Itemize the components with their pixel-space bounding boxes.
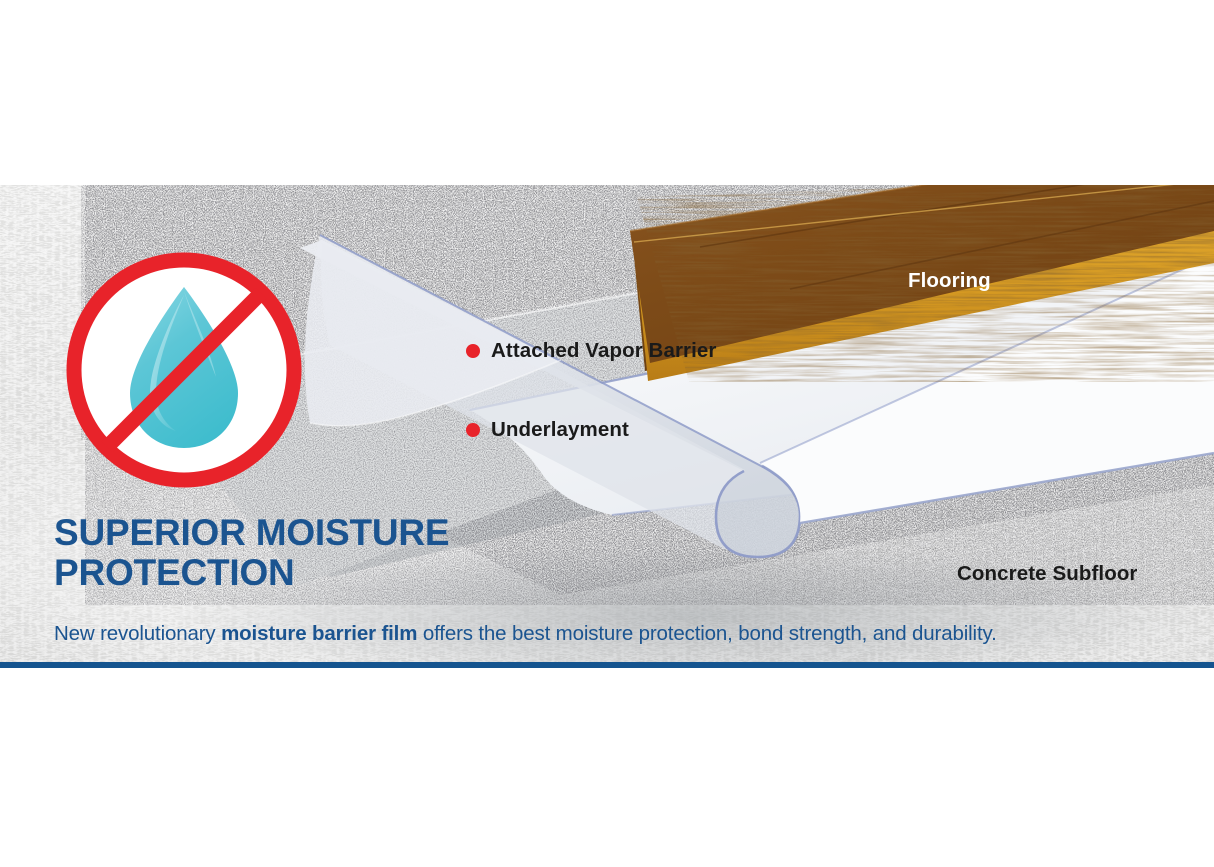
bottom-accent-rule	[0, 662, 1214, 668]
callout-label: Underlayment	[491, 418, 629, 442]
headline: SUPERIOR MOISTURE PROTECTION	[54, 513, 574, 592]
tagline-after: offers the best moisture protection, bon…	[417, 622, 996, 645]
callout-underlayment: Underlayment	[466, 418, 629, 442]
callout-bullet-icon	[466, 423, 480, 437]
callout-attached-vapor-barrier: Attached Vapor Barrier	[466, 339, 717, 363]
callout-bullet-icon	[466, 344, 480, 358]
headline-line-2: PROTECTION	[54, 553, 574, 593]
layer-label-flooring: Flooring	[908, 269, 991, 293]
headline-line-1: SUPERIOR MOISTURE	[54, 513, 574, 553]
callout-label: Attached Vapor Barrier	[491, 339, 717, 363]
tagline-emphasis: moisture barrier film	[221, 622, 417, 645]
tagline: New revolutionary moisture barrier film …	[54, 622, 997, 646]
no-moisture-icon	[66, 251, 302, 489]
tagline-before: New revolutionary	[54, 622, 221, 645]
layer-label-concrete-subfloor: Concrete Subfloor	[957, 562, 1138, 586]
infographic-banner: Attached Vapor Barrier Underlayment Floo…	[0, 0, 1214, 867]
